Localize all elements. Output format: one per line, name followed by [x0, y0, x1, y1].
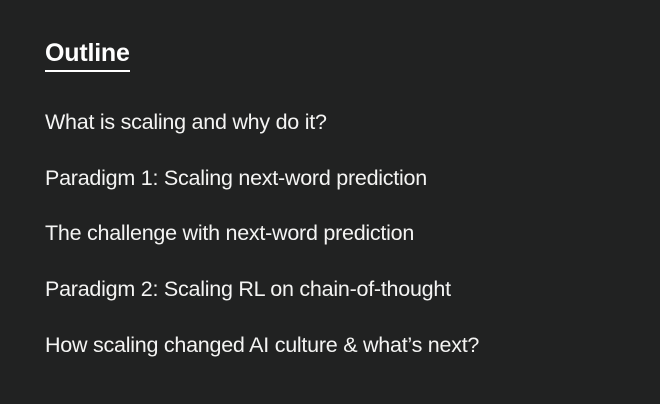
outline-item-what-is-scaling: What is scaling and why do it? — [45, 110, 616, 135]
outline-list: What is scaling and why do it? Paradigm … — [45, 110, 616, 358]
outline-item-label: Paradigm 1: Scaling next-word prediction — [45, 166, 427, 190]
page-title: Outline — [45, 40, 130, 72]
outline-item-the-challenge: The challenge with next-word prediction — [45, 221, 616, 246]
outline-item-how-scaling-changed-ai-culture: How scaling changed AI culture & what’s … — [45, 333, 616, 358]
outline-item-paradigm-1: Paradigm 1: Scaling next-word prediction — [45, 166, 616, 191]
outline-item-label: Paradigm 2: Scaling RL on chain-of-thoug… — [45, 277, 451, 301]
outline-item-paradigm-2: Paradigm 2: Scaling RL on chain-of-thoug… — [45, 277, 616, 302]
presentation-slide: Outline What is scaling and why do it? P… — [0, 0, 660, 404]
outline-item-label: What is scaling and why do it? — [45, 110, 327, 134]
outline-item-label: The challenge with next-word prediction — [45, 221, 414, 245]
outline-item-label: How scaling changed AI culture & what’s … — [45, 333, 479, 357]
